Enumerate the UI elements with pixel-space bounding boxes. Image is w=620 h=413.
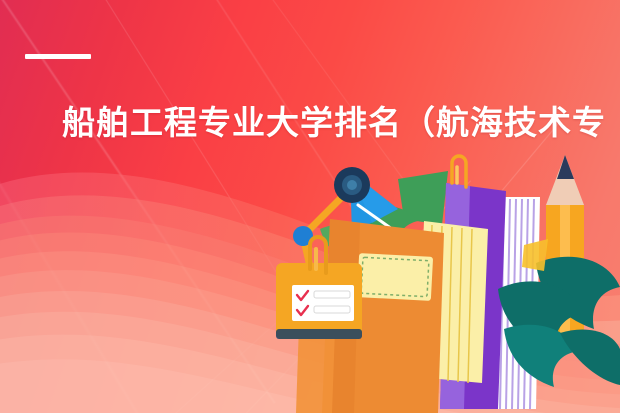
illustration-svg	[0, 133, 620, 413]
cover-canvas: 船舶工程专业大学排名（航海技术专	[0, 0, 620, 413]
paperclip-icon	[452, 156, 466, 187]
page-title: 船舶工程专业大学排名（航海技术专	[62, 103, 620, 143]
lamp-hinge-core	[347, 180, 357, 190]
clipboard-foot	[276, 329, 362, 339]
decorative-rule	[25, 54, 91, 59]
study-desk-illustration	[0, 133, 620, 413]
